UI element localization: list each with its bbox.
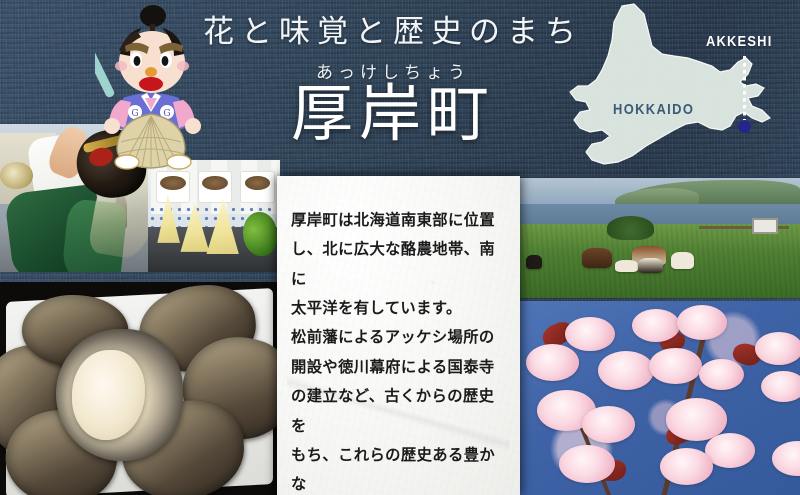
akkeshi-mascot-character: G G bbox=[95, 2, 217, 170]
description-line: 松前藩によるアッケシ場所の bbox=[291, 323, 507, 352]
description-text: 厚岸町は北海道南東部に位置 し、北に広大な酪農地帯、南に 太平洋を有しています。… bbox=[291, 206, 507, 495]
map-marker-dot bbox=[738, 120, 751, 133]
description-line: の建立など、古くからの歴史を bbox=[291, 382, 507, 441]
map-label-hokkaido: HOKKAIDO bbox=[613, 101, 694, 118]
map-connector-line bbox=[743, 56, 746, 124]
description-panel: 厚岸町は北海道南東部に位置 し、北に広大な酪農地帯、南に 太平洋を有しています。… bbox=[277, 176, 520, 495]
photo-cherry-blossoms bbox=[520, 301, 800, 495]
akkeshi-town-banner: HOKKAIDO AKKESHI 花と味覚と歴史のまち あっけしちょう 厚岸町 bbox=[0, 0, 800, 495]
description-line: 厚岸町は北海道南東部に位置 bbox=[291, 206, 507, 235]
town-name-furigana: あっけしちょう bbox=[198, 58, 588, 83]
tagline: 花と味覚と歴史のまち bbox=[198, 6, 588, 51]
description-line: 開設や徳川幕府による国泰寺 bbox=[291, 353, 507, 382]
photo-coastal-pasture bbox=[520, 178, 800, 298]
photo-oysters bbox=[0, 282, 278, 495]
map-label-akkeshi: AKKESHI bbox=[706, 33, 772, 50]
header-titles: 花と味覚と歴史のまち あっけしちょう 厚岸町 bbox=[198, 6, 588, 150]
description-line: もち、これらの歴史ある豊かな bbox=[291, 441, 507, 495]
description-line: 太平洋を有しています。 bbox=[291, 294, 507, 323]
town-name-title: 厚岸町 bbox=[198, 81, 588, 150]
description-line: し、北に広大な酪農地帯、南に bbox=[291, 235, 507, 294]
photo-cheese-wedges bbox=[148, 160, 280, 272]
